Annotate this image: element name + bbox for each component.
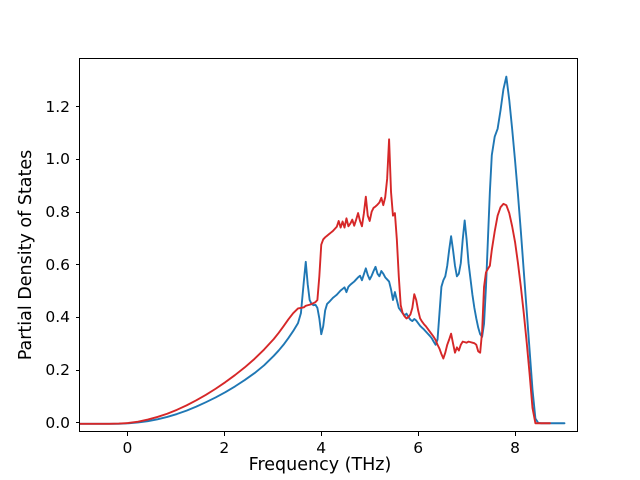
y-tick-mark (76, 370, 80, 371)
plot-axes (79, 58, 578, 432)
y-tick-label: 1.0 (0, 150, 79, 168)
curve-series-2 (80, 139, 550, 423)
plot-curves (80, 59, 579, 433)
y-tick-mark (76, 212, 80, 213)
x-tick-mark (321, 432, 322, 436)
y-tick-mark (76, 317, 80, 318)
y-tick-label: 0.2 (0, 361, 79, 379)
y-tick-label: 1.2 (0, 98, 79, 116)
x-tick-mark (224, 432, 225, 436)
y-tick-label: 0.8 (0, 203, 79, 221)
y-tick-label: 0.0 (0, 414, 79, 432)
y-tick-label: 0.6 (0, 256, 79, 274)
matplotlib-figure: 0.00.20.40.60.81.01.2 02468 Frequency (T… (0, 0, 640, 480)
y-tick-mark (76, 159, 80, 160)
y-tick-mark (76, 264, 80, 265)
y-axis-label: Partial Density of States (16, 68, 36, 442)
y-tick-label: 0.4 (0, 308, 79, 326)
x-tick-mark (515, 432, 516, 436)
x-tick-mark (418, 432, 419, 436)
x-tick-mark (127, 432, 128, 436)
y-tick-mark (76, 106, 80, 107)
x-axis-label: Frequency (THz) (0, 455, 640, 475)
y-tick-mark (76, 422, 80, 423)
